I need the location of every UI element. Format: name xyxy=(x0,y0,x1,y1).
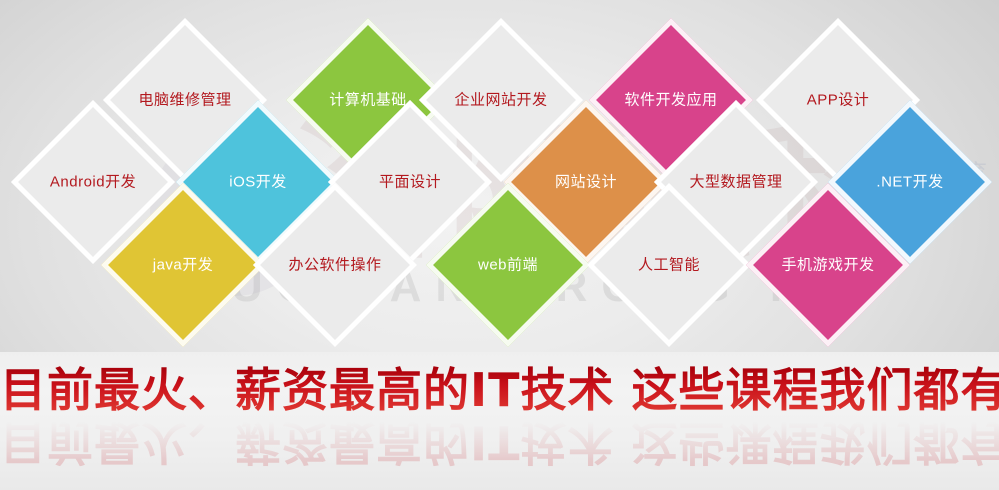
course-tile-label: 人工智能 xyxy=(638,258,700,273)
course-tile-label: 手机游戏开发 xyxy=(781,258,874,273)
course-tile-label: 计算机基础 xyxy=(329,93,407,108)
course-tile-label: web前端 xyxy=(478,258,538,273)
course-tile-label: 软件开发应用 xyxy=(624,93,717,108)
promo-banner: 洛阳融科 LUO YANG RONG KE R 洛阳融科教育 电脑维修管理计算机… xyxy=(0,0,999,490)
course-tile-label: 办公软件操作 xyxy=(288,258,381,273)
headline-section: 目前最火、薪资最高的IT技术 这些课程我们都有！ 目前最火、薪资最高的IT技术 … xyxy=(0,352,999,490)
course-tile-label: 平面设计 xyxy=(379,175,441,190)
course-tile-label: 企业网站开发 xyxy=(454,93,547,108)
course-tile-label: 大型数据管理 xyxy=(689,175,782,190)
course-tile-label: Android开发 xyxy=(50,175,136,190)
course-diamond-grid: 电脑维修管理计算机基础企业网站开发软件开发应用APP设计Android开发iOS… xyxy=(0,0,999,352)
course-tile-label: APP设计 xyxy=(807,93,870,108)
headline-reflection: 目前最火、薪资最高的IT技术 这些课程我们都有！ xyxy=(0,418,999,466)
course-tile-label: iOS开发 xyxy=(229,175,287,190)
course-tile-label: .NET开发 xyxy=(876,175,943,190)
headline-text: 目前最火、薪资最高的IT技术 这些课程我们都有！ xyxy=(0,366,999,414)
course-tile-label: 电脑维修管理 xyxy=(138,93,231,108)
course-tile-label: 网站设计 xyxy=(555,175,617,190)
course-tile-label: java开发 xyxy=(153,258,214,273)
